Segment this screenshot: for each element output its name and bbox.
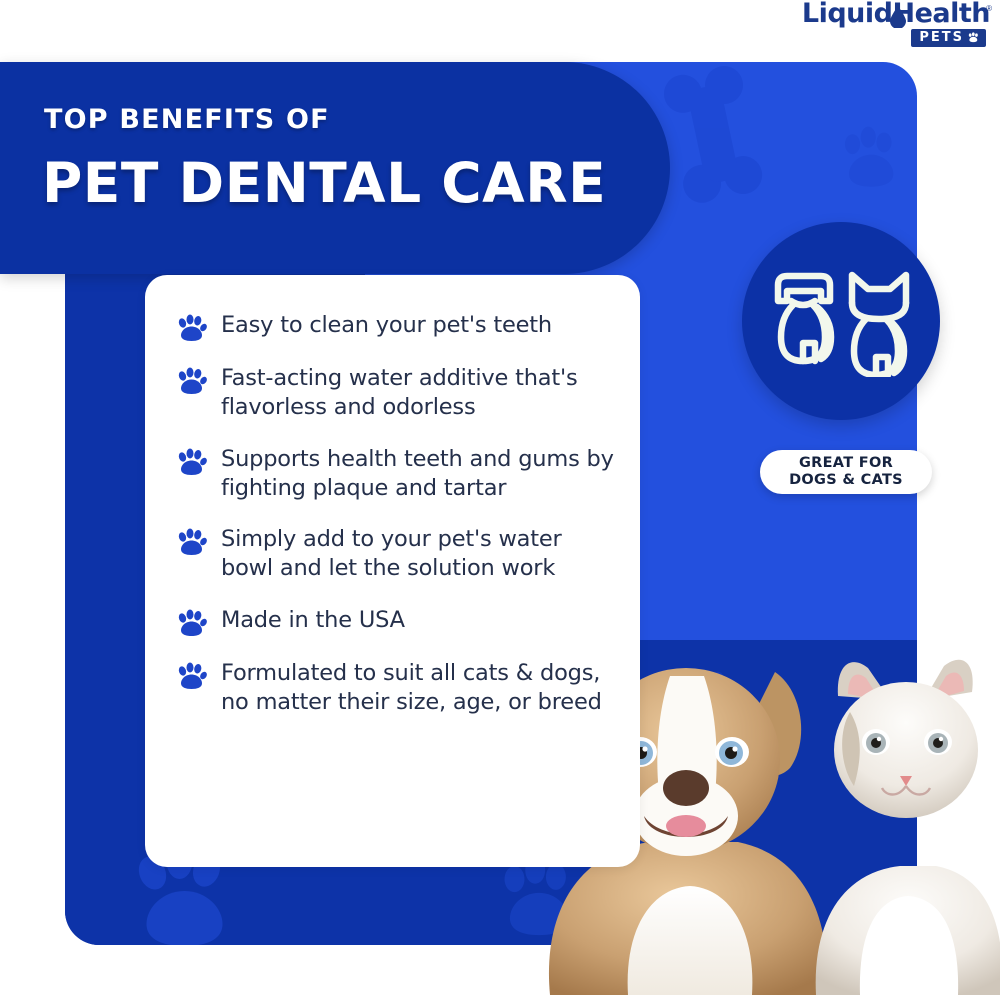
list-item: Made in the USA — [177, 606, 617, 637]
benefits-list: Easy to clean your pet's teeth Fast-acti… — [177, 311, 617, 739]
list-item: Supports health teeth and gums by fighti… — [177, 445, 617, 504]
paw-print-icon — [177, 528, 207, 556]
infographic-canvas: TOP BENEFITS OF PET DENTAL CARE Easy to … — [0, 0, 1000, 995]
paw-print-icon — [177, 367, 207, 395]
header-banner: TOP BENEFITS OF PET DENTAL CARE — [0, 62, 670, 274]
list-item: Simply add to your pet's water bowl and … — [177, 525, 617, 584]
brand-logo: LiquidHealth ® PETS — [812, 2, 992, 50]
benefits-card: Easy to clean your pet's teeth Fast-acti… — [145, 275, 640, 867]
dogs-cats-badge-circle — [742, 222, 940, 420]
bone-watermark-icon — [660, 64, 770, 204]
paw-watermark-icon — [835, 122, 905, 192]
header-kicker: TOP BENEFITS OF — [44, 104, 330, 135]
list-item-label: Supports health teeth and gums by fighti… — [221, 445, 617, 504]
pets-sub-badge: PETS — [911, 29, 986, 47]
trademark-symbol: ® — [986, 4, 992, 13]
list-item: Fast-acting water additive that's flavor… — [177, 364, 617, 423]
list-item-label: Made in the USA — [221, 606, 405, 635]
paw-print-icon — [968, 32, 979, 43]
status-badge: GREAT FOR DOGS & CATS — [760, 450, 932, 494]
paw-print-icon — [177, 314, 207, 342]
white-tabby-cat-photo — [816, 660, 1000, 995]
pets-label: PETS — [919, 31, 964, 44]
list-item: Easy to clean your pet's teeth — [177, 311, 617, 342]
badge-line-2: DOGS & CATS — [789, 472, 903, 489]
paw-print-icon — [177, 448, 207, 476]
page-title: PET DENTAL CARE — [42, 151, 606, 215]
paw-print-icon — [177, 609, 207, 637]
water-droplet-icon — [890, 6, 906, 28]
dog-outline-icon — [778, 276, 831, 361]
list-item-label: Simply add to your pet's water bowl and … — [221, 525, 617, 584]
list-item-label: Easy to clean your pet's teeth — [221, 311, 552, 340]
badge-line-1: GREAT FOR — [799, 455, 893, 472]
list-item: Formulated to suit all cats & dogs, no m… — [177, 659, 617, 718]
cat-outline-icon — [852, 275, 906, 375]
list-item-label: Formulated to suit all cats & dogs, no m… — [221, 659, 617, 718]
paw-print-icon — [177, 662, 207, 690]
list-item-label: Fast-acting water additive that's flavor… — [221, 364, 617, 423]
